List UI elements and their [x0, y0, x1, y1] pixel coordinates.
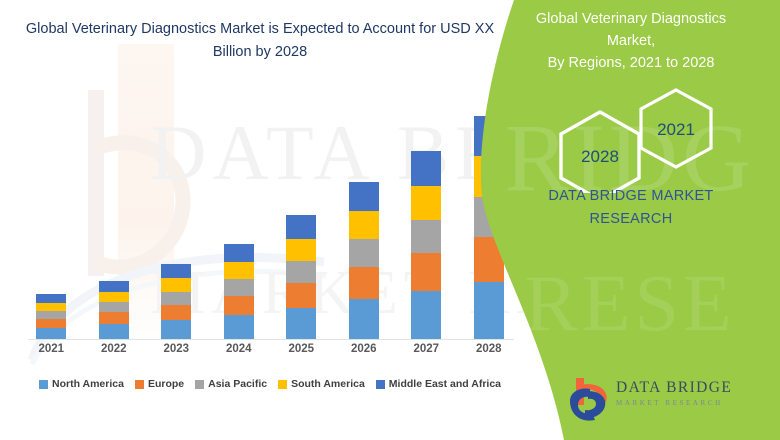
bar-segment	[411, 291, 441, 339]
right-green-panel: RIDG RESE Global Veterinary Diagnostics …	[480, 0, 780, 440]
bar-segment	[99, 324, 129, 339]
bar-segment	[411, 186, 441, 220]
bar-segment	[224, 296, 254, 315]
panel-brand-text: DATA BRIDGE MARKET RESEARCH	[502, 185, 760, 231]
bar-group-2026	[333, 94, 395, 339]
legend-item[interactable]: Asia Pacific	[195, 378, 267, 390]
panel-brand-line2: RESEARCH	[590, 211, 673, 227]
legend-label: Europe	[148, 378, 184, 390]
x-axis-label-2022: 2022	[83, 343, 145, 355]
chart-title: Global Veterinary Diagnostics Market is …	[20, 18, 500, 64]
bar-segment	[36, 311, 66, 319]
legend-item[interactable]: South America	[278, 378, 365, 390]
x-axis-label-2021: 2021	[20, 343, 82, 355]
hexagon-2028-label: 2028	[581, 147, 619, 166]
bar-segment	[161, 292, 191, 305]
stacked-bar	[411, 151, 441, 339]
stacked-bar-chart	[20, 90, 520, 340]
bar-segment	[411, 151, 441, 186]
bar-segment	[36, 294, 66, 303]
legend-swatch-icon	[195, 380, 204, 389]
x-axis-label-2023: 2023	[145, 343, 207, 355]
bar-segment	[349, 267, 379, 299]
bar-segment	[224, 244, 254, 262]
legend-label: North America	[52, 378, 124, 390]
legend-swatch-icon	[135, 380, 144, 389]
bar-segment	[161, 305, 191, 320]
bar-segment	[411, 253, 441, 291]
chart-plot-area	[20, 94, 520, 339]
logo-secondary-text: MARKET RESEARCH	[616, 399, 732, 407]
x-axis-label-2024: 2024	[208, 343, 270, 355]
bar-segment	[224, 262, 254, 279]
bar-segment	[349, 239, 379, 267]
bar-group-2024	[208, 94, 270, 339]
logo-text: DATA BRIDGE MARKET RESEARCH	[616, 379, 732, 407]
legend-swatch-icon	[278, 380, 287, 389]
stacked-bar	[224, 244, 254, 339]
legend-label: South America	[291, 378, 365, 390]
hexagon-2021-label: 2021	[657, 120, 695, 139]
stacked-bar	[286, 215, 316, 339]
chart-legend: North AmericaEuropeAsia PacificSouth Ame…	[20, 374, 520, 394]
legend-swatch-icon	[39, 380, 48, 389]
x-axis-labels: 20212022202320242025202620272028	[20, 343, 520, 365]
logo-primary-text: DATA BRIDGE	[616, 379, 732, 397]
stacked-bar	[99, 281, 129, 339]
infographic-page: DATA BRIDGE MARKET RESEARCH Global Veter…	[0, 0, 780, 440]
stacked-bar	[36, 294, 66, 339]
bar-segment	[349, 182, 379, 211]
panel-title: Global Veterinary Diagnostics Market, By…	[502, 8, 760, 74]
stacked-bar	[161, 264, 191, 339]
hexagon-badges: 2021 2028	[530, 88, 740, 193]
x-axis-label-2025: 2025	[270, 343, 332, 355]
bar-segment	[286, 215, 316, 239]
bar-segment	[161, 278, 191, 292]
bar-segment	[349, 299, 379, 339]
x-axis-label-2026: 2026	[333, 343, 395, 355]
bar-segment	[99, 302, 129, 312]
legend-item[interactable]: Europe	[135, 378, 184, 390]
bar-segment	[99, 292, 129, 302]
bar-segment	[411, 220, 441, 253]
legend-item[interactable]: North America	[39, 378, 124, 390]
bar-segment	[286, 239, 316, 261]
x-axis-label-2027: 2027	[395, 343, 457, 355]
bar-segment	[161, 264, 191, 278]
bar-group-2022	[83, 94, 145, 339]
stacked-bar	[349, 182, 379, 339]
bar-segment	[36, 303, 66, 311]
panel-brand-line1: DATA BRIDGE MARKET	[548, 188, 713, 204]
bar-segment	[36, 328, 66, 339]
logo-mark-icon	[566, 375, 612, 421]
bar-segment	[99, 281, 129, 292]
bar-segment	[224, 279, 254, 296]
legend-label: Asia Pacific	[208, 378, 267, 390]
legend-swatch-icon	[376, 380, 385, 389]
bar-group-2021	[20, 94, 82, 339]
bar-group-2023	[145, 94, 207, 339]
bar-segment	[349, 211, 379, 239]
bar-segment	[99, 312, 129, 324]
bar-group-2025	[270, 94, 332, 339]
bar-group-2027	[395, 94, 457, 339]
bar-segment	[286, 261, 316, 283]
panel-title-line1: Global Veterinary Diagnostics	[536, 11, 726, 27]
x-axis-line	[28, 339, 514, 340]
bar-segment	[286, 283, 316, 308]
bar-segment	[224, 315, 254, 339]
bar-segment	[161, 320, 191, 339]
data-bridge-logo: DATA BRIDGE MARKET RESEARCH	[566, 375, 766, 421]
bar-segment	[36, 319, 66, 328]
panel-title-line3: By Regions, 2021 to 2028	[548, 55, 715, 71]
bar-segment	[286, 308, 316, 339]
panel-title-line2: Market,	[607, 33, 655, 49]
